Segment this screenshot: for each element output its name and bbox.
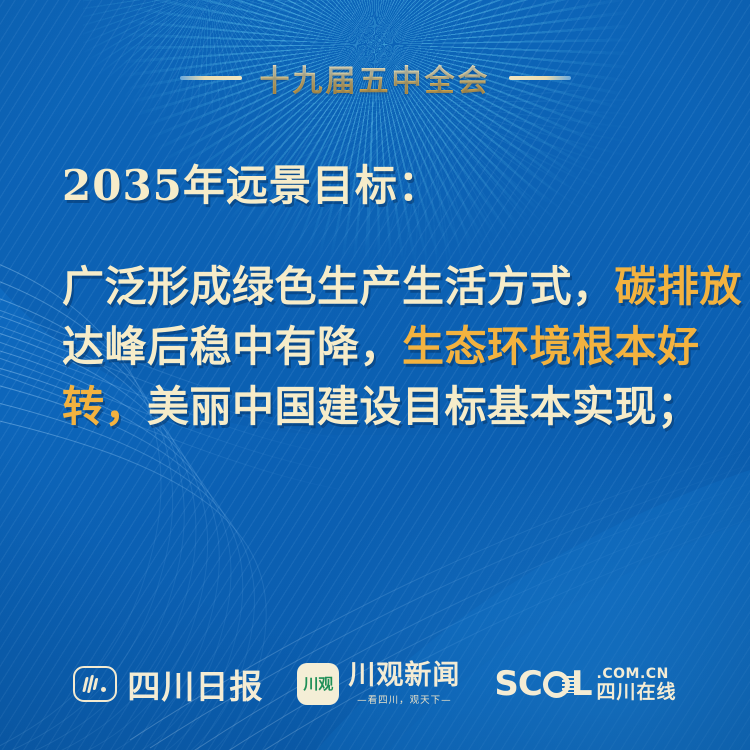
- chuanguan-news-name: 川观新闻: [348, 662, 460, 689]
- body-line-1: 广泛形成绿色生产生活方式，碳排放: [62, 257, 700, 317]
- body-line-1-segment-2: 碳排放: [615, 262, 743, 311]
- sichuan-daily-name: 四川日报: [127, 660, 263, 708]
- body-line-2: 达峰后稳中有降，生态环境根本好: [62, 317, 700, 377]
- chuanguan-text-block: 川观新闻 —看四川，观天下—: [348, 662, 460, 706]
- header-rule-right-icon: [509, 76, 571, 80]
- scol-wordmark: SC L: [494, 667, 591, 701]
- logo-scol-sichuan-online[interactable]: SC L .COM.CN 四川在线: [494, 667, 676, 702]
- sichuan-daily-mark-icon: [73, 666, 117, 702]
- logo-sichuan-daily[interactable]: 四川日报: [73, 660, 263, 708]
- chuanguan-news-tagline: —看四川，观天下—: [357, 692, 452, 706]
- body-line-2-segment-2: 生态环境根本好: [402, 322, 700, 371]
- body-line-3: 转，美丽中国建设目标基本实现；: [62, 377, 700, 437]
- scol-text-block: .COM.CN 四川在线: [597, 667, 677, 702]
- poster-content: 2035年远景目标： 广泛形成绿色生产生活方式，碳排放 达峰后稳中有降，生态环境…: [62, 152, 700, 437]
- poster-header: 十九届五中全会: [0, 56, 750, 100]
- scol-chinese-name: 四川在线: [597, 683, 677, 702]
- header-rule-left-icon: [180, 76, 242, 80]
- poster-canvas: 十九届五中全会 2035年远景目标： 广泛形成绿色生产生活方式，碳排放 达峰后稳…: [0, 0, 750, 750]
- scol-word-left: SC: [494, 667, 541, 701]
- scol-domain: .COM.CN: [597, 667, 677, 681]
- footer-logo-bar: 四川日报 川观 川观新闻 —看四川，观天下— SC L .COM.CN 四川在线: [0, 660, 750, 708]
- body-line-1-segment-1: 广泛形成绿色生产生活方式，: [62, 262, 615, 311]
- chuanguan-badge-icon: 川观: [297, 663, 339, 705]
- logo-chuanguan-news[interactable]: 川观 川观新闻 —看四川，观天下—: [297, 662, 460, 706]
- scol-sun-o-icon: [543, 671, 570, 698]
- body-line-3-segment-2: 美丽中国建设目标基本实现；: [147, 382, 700, 431]
- main-title: 2035年远景目标：: [62, 152, 700, 213]
- body-line-3-segment-1: 转，: [62, 382, 147, 431]
- body-line-2-segment-1: 达峰后稳中有降，: [62, 322, 402, 371]
- header-title: 十九届五中全会: [260, 56, 491, 100]
